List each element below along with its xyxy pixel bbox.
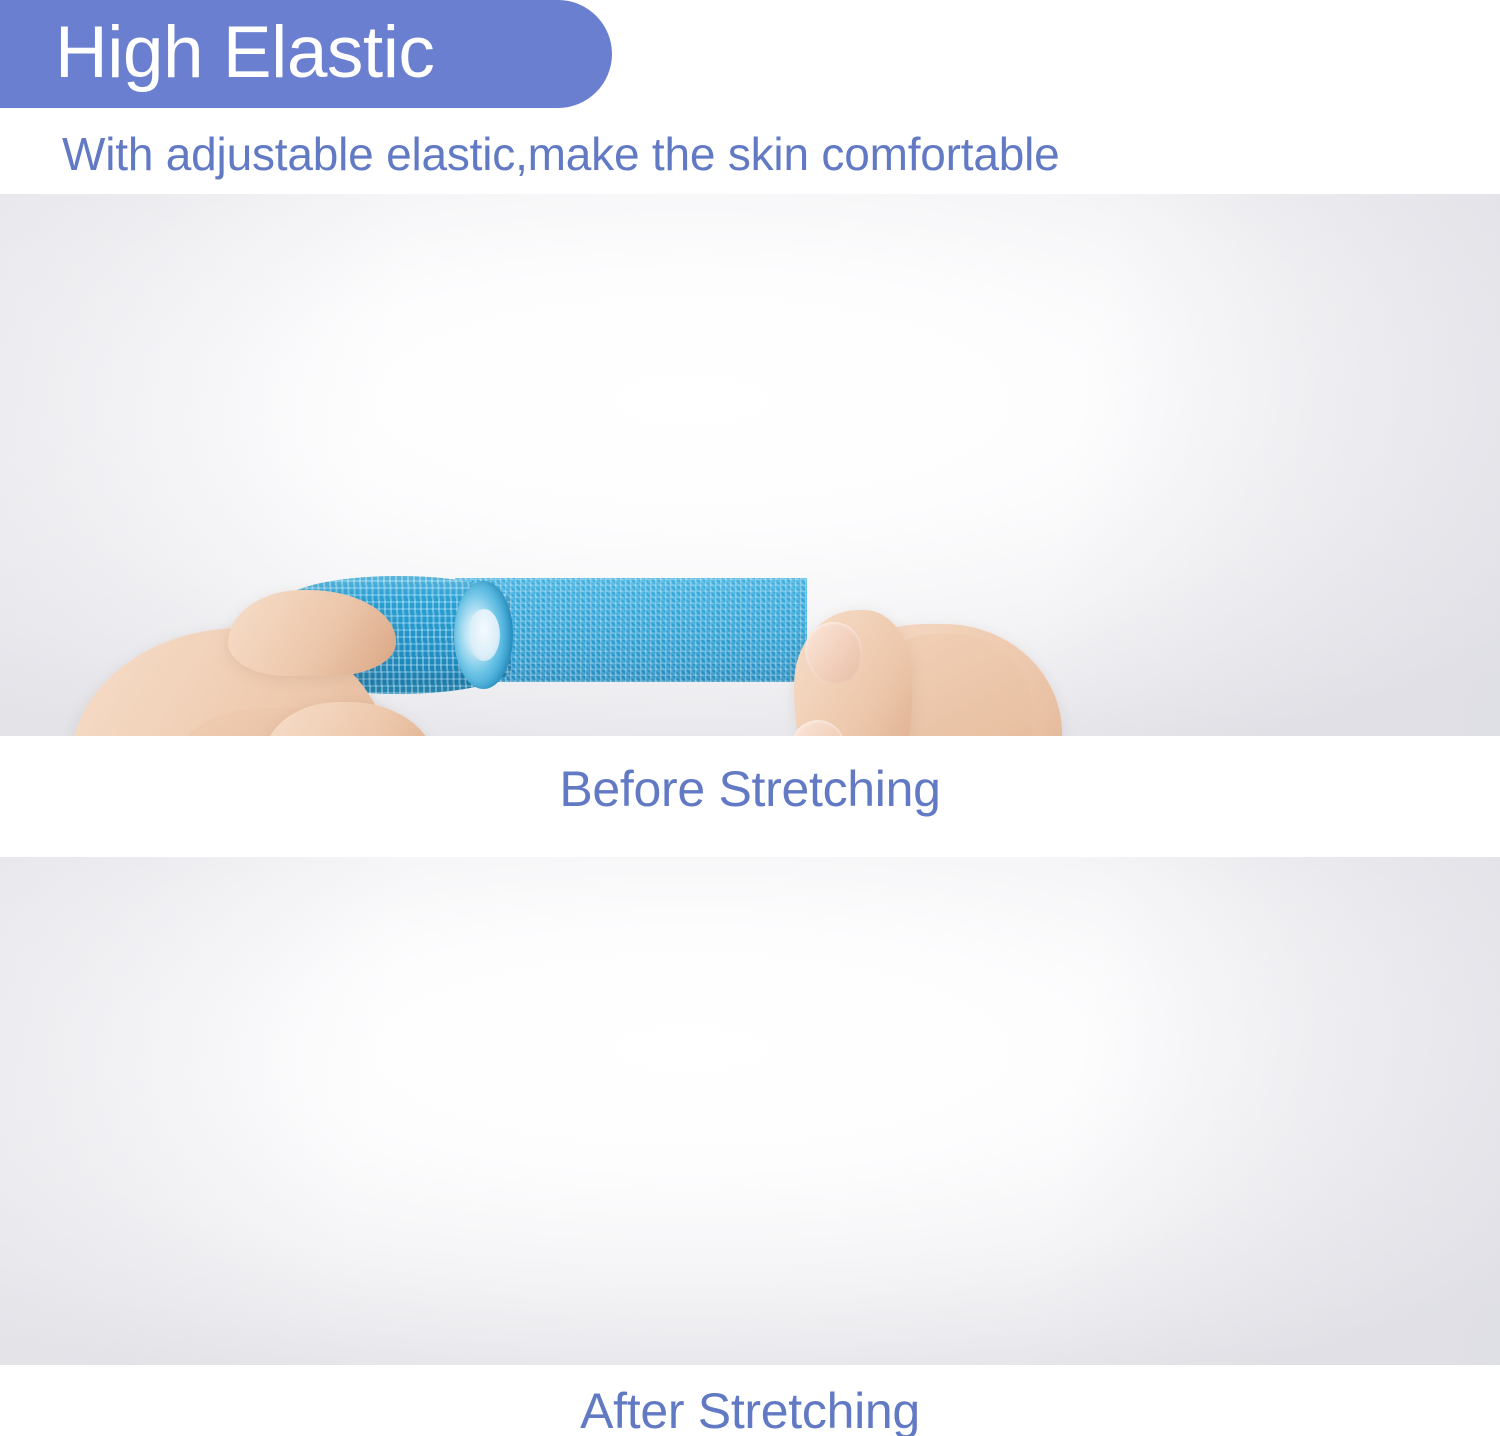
header-badge-label: High Elastic xyxy=(0,16,434,89)
panel-background xyxy=(0,857,1500,1365)
left-hand xyxy=(58,586,488,736)
header-subtitle: With adjustable elastic,make the skin co… xyxy=(62,128,1060,181)
header-badge: High Elastic xyxy=(0,0,612,108)
caption-before-stretching: Before Stretching xyxy=(0,760,1500,818)
product-infographic: High Elastic With adjustable elastic,mak… xyxy=(0,0,1500,1436)
photo-panel-before-stretching xyxy=(0,194,1500,736)
left-hand-index-finger xyxy=(228,590,396,676)
caption-after-stretching: After Stretching xyxy=(0,1382,1500,1436)
right-hand xyxy=(770,588,1100,736)
photo-panel-after-stretching xyxy=(0,857,1500,1365)
